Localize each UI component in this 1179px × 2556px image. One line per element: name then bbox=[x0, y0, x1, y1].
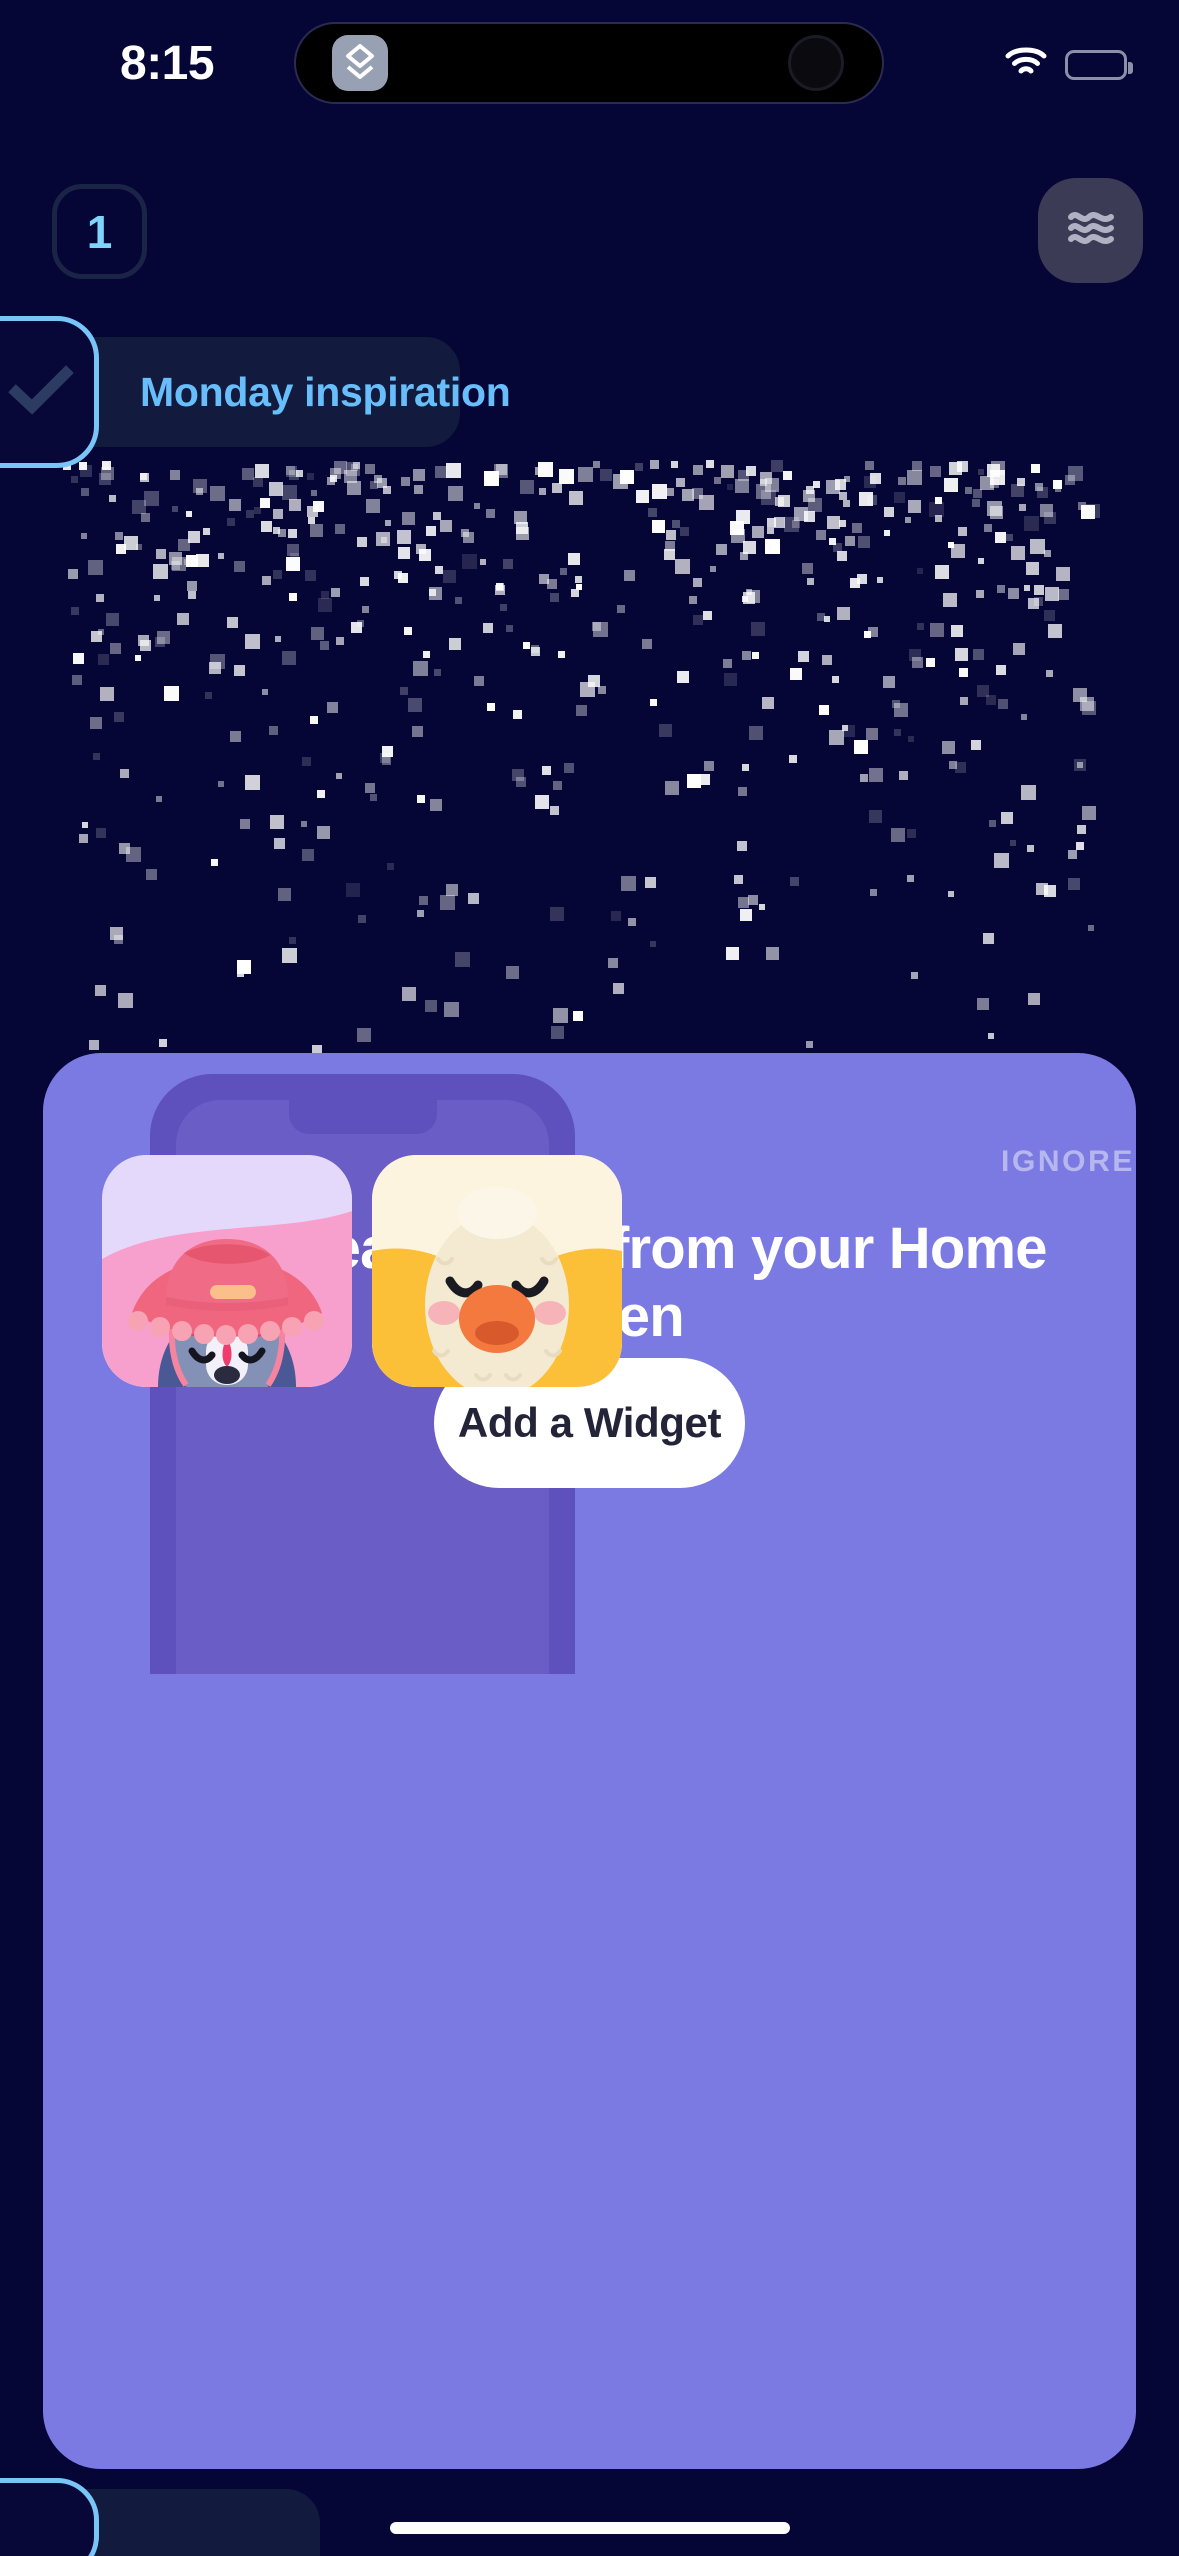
layers-icon[interactable] bbox=[332, 35, 388, 91]
streak-count-value: 1 bbox=[87, 205, 113, 259]
status-bar-indicators bbox=[1005, 46, 1127, 83]
add-widget-label: Add a Widget bbox=[458, 1399, 721, 1447]
duck-widget[interactable] bbox=[372, 1155, 622, 1387]
task-label: Monday inspiration bbox=[140, 337, 510, 447]
wifi-icon bbox=[1005, 46, 1047, 83]
waves-icon bbox=[1065, 206, 1117, 255]
ignore-button[interactable]: IGNORE bbox=[1001, 1145, 1135, 1179]
front-camera bbox=[788, 35, 844, 91]
confetti-particles bbox=[0, 460, 1179, 1060]
status-bar: 8:15 bbox=[0, 0, 1179, 125]
next-task-checkbox[interactable] bbox=[0, 2478, 99, 2556]
battery-icon bbox=[1065, 50, 1127, 80]
llama-widget[interactable] bbox=[102, 1155, 352, 1387]
waves-button[interactable] bbox=[1038, 178, 1143, 283]
phone-notch bbox=[289, 1100, 437, 1134]
streak-count-badge[interactable]: 1 bbox=[52, 184, 147, 279]
task-row[interactable]: Monday inspiration bbox=[0, 337, 460, 447]
status-bar-time: 8:15 bbox=[120, 36, 214, 91]
home-indicator[interactable] bbox=[390, 2522, 790, 2534]
task-checkbox[interactable] bbox=[0, 316, 99, 468]
checkmark-icon bbox=[6, 362, 76, 423]
dynamic-island[interactable] bbox=[294, 22, 884, 104]
